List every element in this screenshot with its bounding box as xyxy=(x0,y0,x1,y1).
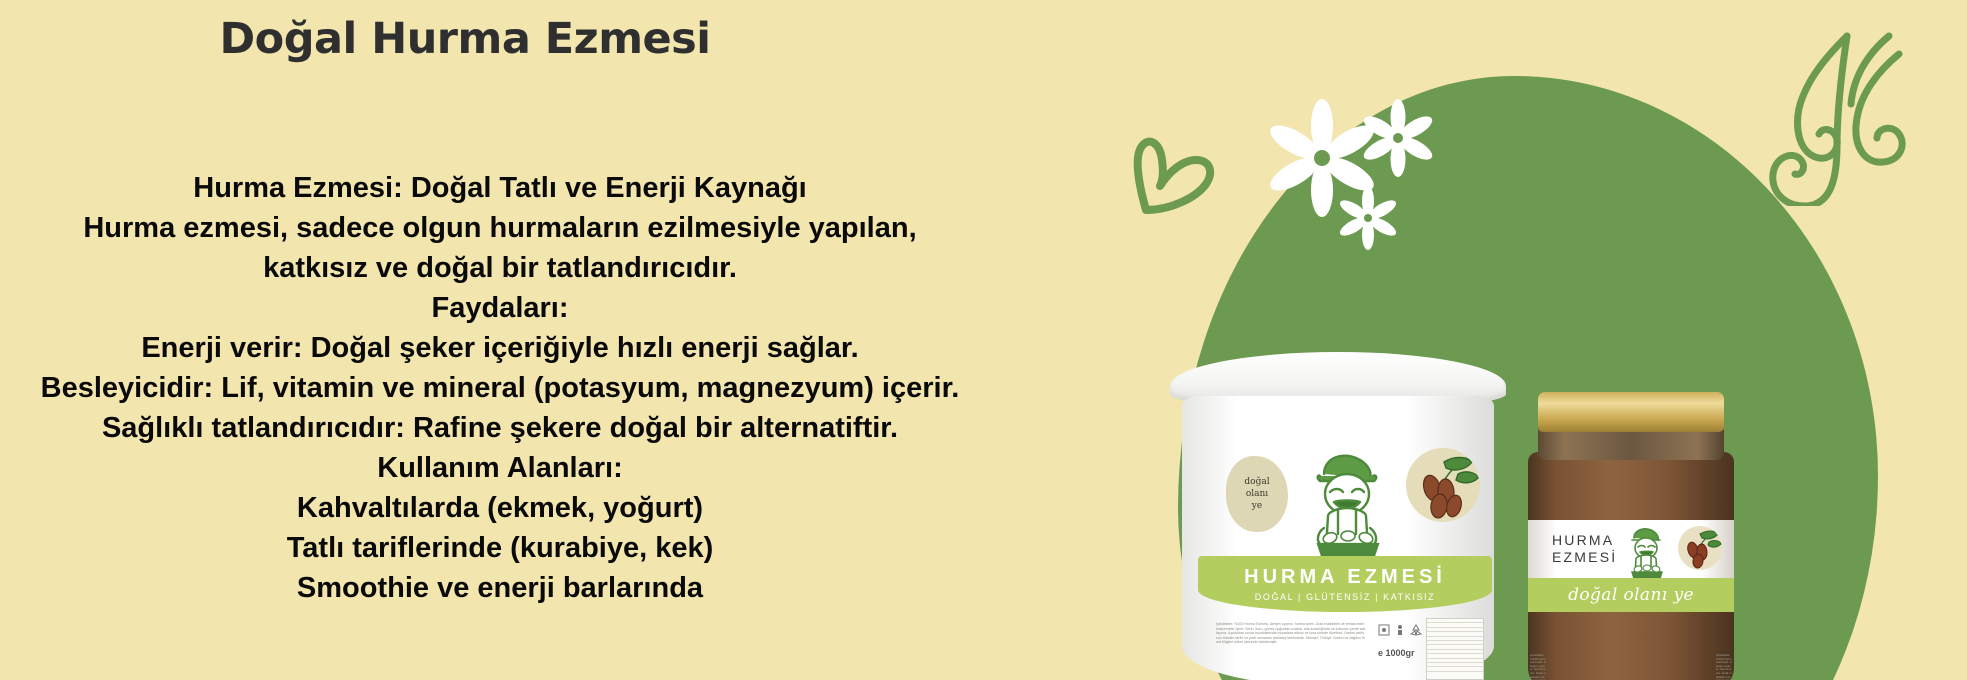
badge-line-2: olanı xyxy=(1246,488,1268,500)
bucket-label-band: HURMA EZMESİ DOĞAL | GLÜTENSİZ | KATKISI… xyxy=(1198,556,1492,612)
jar-title-line-1: HURMA xyxy=(1552,532,1617,549)
jar-product-title: HURMA EZMESİ xyxy=(1552,532,1617,566)
description-line: Kahvaltılarda (ekmek, yoğurt) xyxy=(0,488,1000,528)
bucket-fineprint: İçindekiler: %100 Hurma Ezmesi. Alerjen … xyxy=(1216,622,1366,674)
jar-script-slogan: doğal olanı ye xyxy=(1568,585,1694,605)
description-block: Hurma Ezmesi: Doğal Tatlı ve Enerji Kayn… xyxy=(0,168,1000,608)
description-line: Kullanım Alanları: xyxy=(0,448,1000,488)
tidyman-icon xyxy=(1395,624,1405,636)
description-line: Sağlıklı tatlandırıcıdır: Rafine şekere … xyxy=(0,408,1000,448)
product-jar: İçindekiler: %100 Hurma Ezmesi. Alerjen … xyxy=(1518,392,1744,680)
swirl-flourish-icon xyxy=(1737,6,1967,206)
product-bucket: doğal olanı ye xyxy=(1168,352,1508,680)
description-line: Tatlı tariflerinde (kurabiye, kek) xyxy=(0,528,1000,568)
jar-label: İçindekiler: %100 Hurma Ezmesi. Alerjen … xyxy=(1528,520,1734,586)
page-title: Doğal Hurma Ezmesi xyxy=(0,14,930,64)
heart-outline-icon xyxy=(1122,112,1237,222)
jar-title-line-2: EZMESİ xyxy=(1552,549,1617,566)
badge-line-1: doğal xyxy=(1244,476,1269,488)
description-line: Enerji verir: Doğal şeker içeriğiyle hız… xyxy=(0,328,1000,368)
badge-line-3: ye xyxy=(1252,500,1262,512)
jar-label-band: doğal olanı ye xyxy=(1528,578,1734,612)
bucket-body: doğal olanı ye xyxy=(1182,396,1494,680)
jar-label-side-right: İçindekiler: %100 Hurma Ezmesi. Alerjen … xyxy=(1716,654,1732,680)
farmer-illustration-icon xyxy=(1620,524,1672,582)
description-line: katkısız ve doğal bir tatlandırıcıdır. xyxy=(0,248,1000,288)
dates-illustration-icon xyxy=(1406,448,1480,522)
description-line: Smoothie ve enerji barlarında xyxy=(0,568,1000,608)
nutrition-table xyxy=(1426,618,1484,680)
description-line: Faydaları: xyxy=(0,288,1000,328)
green-dot-icon xyxy=(1378,624,1390,636)
recycle-icon xyxy=(1410,624,1422,636)
jar-lid xyxy=(1538,392,1724,432)
text-column: Doğal Hurma Ezmesi Hurma Ezmesi: Doğal T… xyxy=(0,0,1000,680)
daisy-flowers-icon xyxy=(1268,96,1453,251)
bucket-natural-badge: doğal olanı ye xyxy=(1226,456,1288,532)
dates-illustration-icon xyxy=(1678,526,1722,570)
bucket-weight: e 1000gr xyxy=(1378,648,1415,658)
description-line: Hurma ezmesi, sadece olgun hurmaların ez… xyxy=(0,208,1000,248)
bucket-product-subtitle: DOĞAL | GLÜTENSİZ | KATKISIZ xyxy=(1255,592,1436,602)
jar-label-side-left: İçindekiler: %100 Hurma Ezmesi. Alerjen … xyxy=(1530,654,1546,680)
farmer-illustration-icon xyxy=(1294,444,1400,562)
description-line: Hurma Ezmesi: Doğal Tatlı ve Enerji Kayn… xyxy=(0,168,1000,208)
product-banner: Doğal Hurma Ezmesi Hurma Ezmesi: Doğal T… xyxy=(0,0,1967,680)
packaging-symbols xyxy=(1378,624,1422,636)
description-line: Besleyicidir: Lif, vitamin ve mineral (p… xyxy=(0,368,1000,408)
bucket-product-title: HURMA EZMESİ xyxy=(1244,566,1446,589)
